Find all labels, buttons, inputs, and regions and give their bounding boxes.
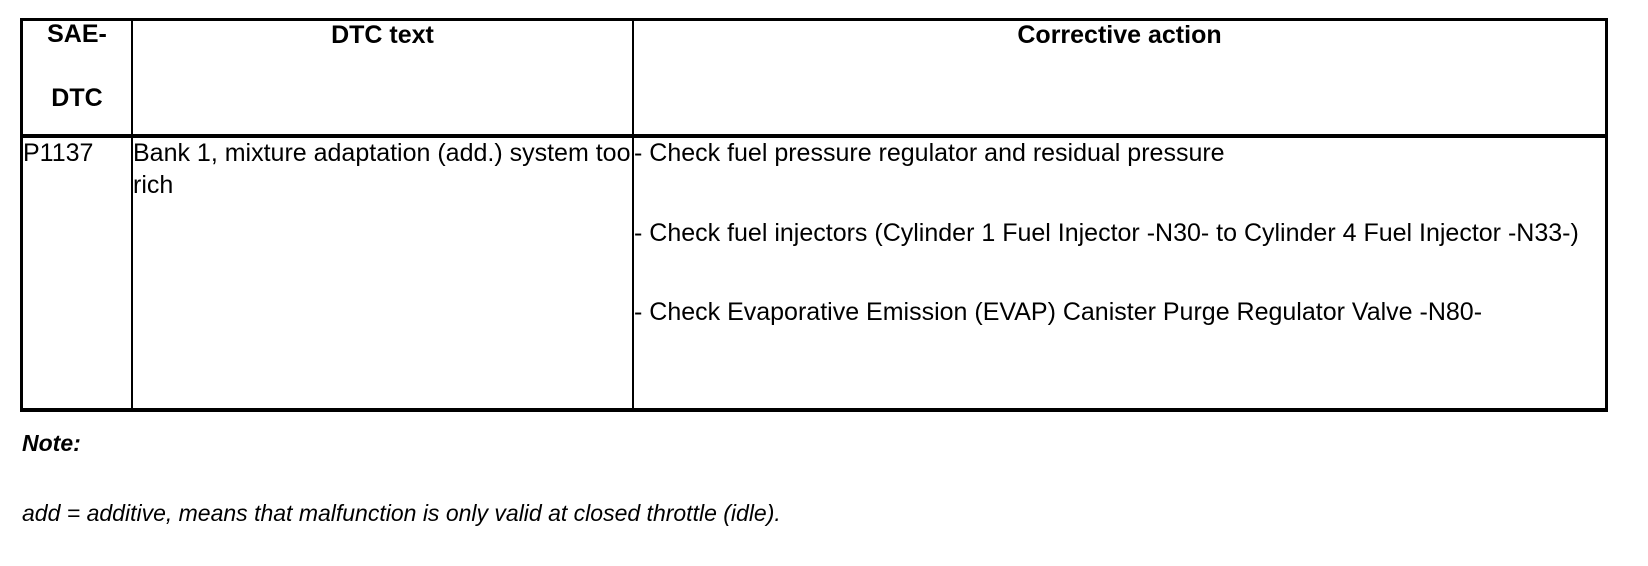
table-row: P1137 Bank 1, mixture adaptation (add.) …: [22, 136, 1607, 410]
corrective-action-item: - Check Evaporative Emission (EVAP) Cani…: [634, 297, 1605, 329]
note-body: add = additive, means that malfunction i…: [22, 500, 1422, 528]
cell-dtc-text: Bank 1, mixture adaptation (add.) system…: [132, 136, 633, 410]
corrective-action-item: - Check fuel pressure regulator and resi…: [634, 138, 1605, 170]
note-title: Note:: [22, 430, 1422, 458]
column-header-corrective-action: Corrective action: [633, 20, 1607, 137]
document-page: SAE- DTC DTC text Corrective action P113…: [0, 0, 1648, 566]
column-header-dtc-text: DTC text: [132, 20, 633, 137]
cell-corrective-action: - Check fuel pressure regulator and resi…: [633, 136, 1607, 410]
column-header-sae-dtc: SAE- DTC: [22, 20, 133, 137]
table-header-row: SAE- DTC DTC text Corrective action: [22, 20, 1607, 137]
column-header-sae-line2: DTC: [23, 85, 131, 113]
corrective-action-item: - Check fuel injectors (Cylinder 1 Fuel …: [634, 218, 1605, 250]
dtc-table: SAE- DTC DTC text Corrective action P113…: [20, 18, 1608, 412]
table-header: SAE- DTC DTC text Corrective action: [22, 20, 1607, 137]
table-body: P1137 Bank 1, mixture adaptation (add.) …: [22, 136, 1607, 410]
cell-sae-dtc-code: P1137: [22, 136, 133, 410]
note-block: Note: add = additive, means that malfunc…: [22, 430, 1422, 527]
column-header-sae-line1: SAE-: [47, 20, 107, 48]
